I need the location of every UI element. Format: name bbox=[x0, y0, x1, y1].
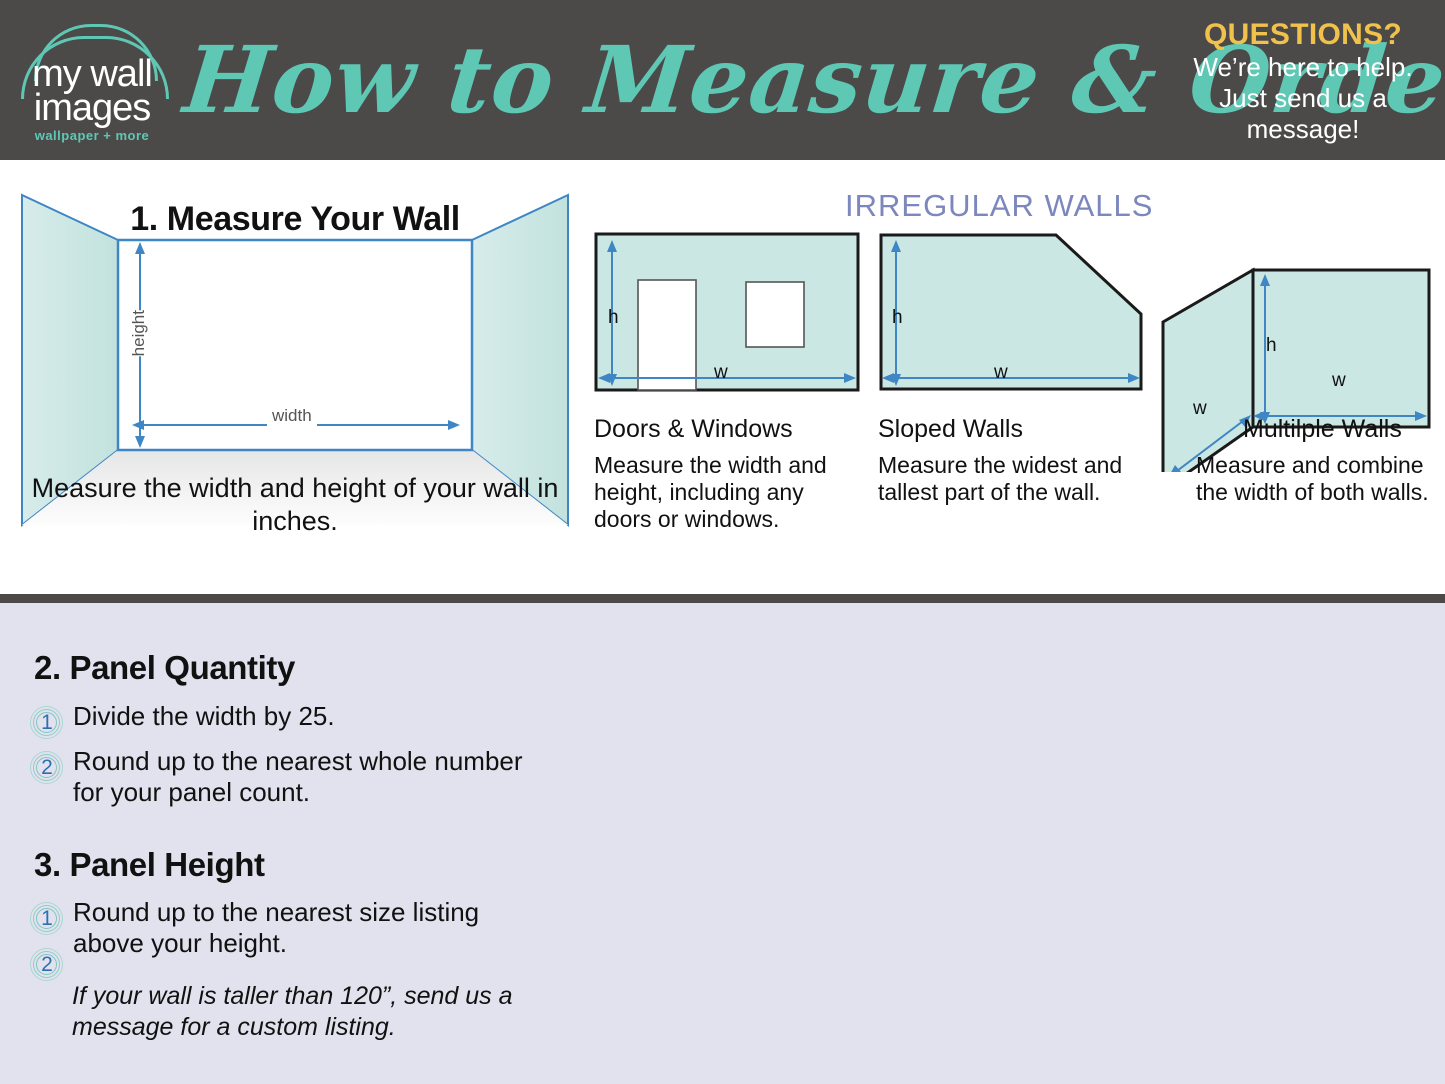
measure-section: 1. Measure Your Wall height width Measur… bbox=[0, 160, 1445, 600]
diagram2-w-label: w bbox=[994, 362, 1008, 384]
header-bar: my wall images wallpaper + more How to M… bbox=[0, 0, 1445, 160]
step-3-title: 3. Panel Height bbox=[34, 846, 265, 884]
diagram2-h-label: h bbox=[892, 307, 903, 329]
panel-height-step-1: 1 Round up to the nearest size listing a… bbox=[30, 897, 550, 959]
step-badge-3-icon: 1 bbox=[30, 902, 64, 936]
diagram3-h-label: h bbox=[1266, 335, 1277, 357]
step-1-title: 1. Measure Your Wall bbox=[14, 200, 576, 239]
brand-logo: my wall images wallpaper + more bbox=[16, 24, 168, 148]
questions-heading: QUESTIONS? bbox=[1175, 18, 1431, 52]
diagram3-w-label: w bbox=[1332, 370, 1346, 392]
step-2-title: 2. Panel Quantity bbox=[34, 649, 295, 687]
panel-quantity-step-2-text: Round up to the nearest whole number for… bbox=[73, 746, 540, 808]
step-badge-1-icon: 1 bbox=[30, 706, 64, 740]
step-badge-3-number: 1 bbox=[30, 902, 64, 936]
diagram3-caption: Multilple Walls bbox=[1243, 415, 1402, 444]
step-badge-2-icon: 2 bbox=[30, 751, 64, 785]
panel-quantity-step-2: 2 Round up to the nearest whole number f… bbox=[30, 746, 540, 808]
wall-height-label: height bbox=[124, 310, 154, 356]
step-badge-4-icon: 2 bbox=[30, 948, 64, 982]
diagram1-w-label: w bbox=[714, 362, 728, 384]
diagram1-h-label: h bbox=[608, 307, 619, 329]
page-title: How to Measure & Order bbox=[178, 14, 1182, 146]
diagram2-description: Measure the widest and tallest part of t… bbox=[878, 452, 1150, 506]
panel-height-step-1-text: Round up to the nearest size listing abo… bbox=[73, 897, 550, 959]
step-badge-4-number: 2 bbox=[30, 948, 64, 982]
infographic-page: my wall images wallpaper + more How to M… bbox=[0, 0, 1445, 1084]
questions-block: QUESTIONS? We’re here to help. Just send… bbox=[1175, 18, 1431, 145]
step-badge-2-number: 2 bbox=[30, 751, 64, 785]
questions-body: We’re here to help. Just send us a messa… bbox=[1175, 52, 1431, 145]
diagram3-w2-label: w bbox=[1193, 398, 1207, 420]
panel-quantity-step-1: 1 Divide the width by 25. bbox=[30, 701, 540, 740]
wall-illustration: 1. Measure Your Wall height width Measur… bbox=[14, 182, 576, 542]
diagram3-description: Measure and combine the width of both wa… bbox=[1196, 452, 1440, 506]
step-badge-1-number: 1 bbox=[30, 706, 64, 740]
irregular-walls-heading: IRREGULAR WALLS bbox=[845, 188, 1153, 224]
panel-height-note: If your wall is taller than 120”, send u… bbox=[72, 981, 552, 1043]
diagram-sloped-walls bbox=[878, 232, 1144, 392]
diagram2-caption: Sloped Walls bbox=[878, 415, 1023, 444]
panel-quantity-step-1-text: Divide the width by 25. bbox=[73, 701, 335, 732]
diagram1-description: Measure the width and height, including … bbox=[594, 452, 858, 533]
logo-line-2: images bbox=[16, 90, 168, 126]
section-divider bbox=[0, 594, 1445, 603]
wall-caption: Measure the width and height of your wal… bbox=[14, 472, 576, 538]
logo-tagline: wallpaper + more bbox=[16, 128, 168, 143]
diagram1-caption: Doors & Windows bbox=[594, 415, 793, 444]
ordering-section: 2. Panel Quantity 1 Divide the width by … bbox=[0, 603, 1445, 1084]
wall-width-label: width bbox=[267, 406, 317, 426]
